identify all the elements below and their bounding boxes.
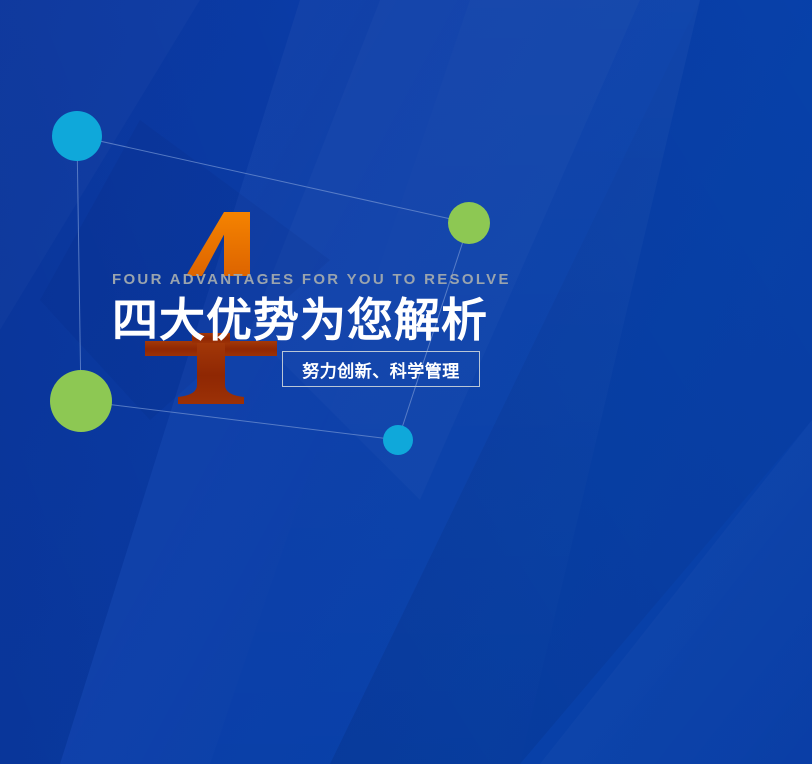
edge-green-bottom-left-to-cyan-bottom-center xyxy=(81,401,398,440)
node-cyan-bottom-center xyxy=(383,425,413,455)
promo-banner: FOUR ADVANTAGES FOR YOU TO RESOLVE 四大优势为… xyxy=(0,0,812,764)
node-green-bottom-left xyxy=(50,370,112,432)
node-green-right xyxy=(448,202,490,244)
tagline-box: 努力创新、科学管理 xyxy=(282,351,480,387)
edge-cyan-top-left-to-green-bottom-left xyxy=(77,136,81,401)
banner-copy: FOUR ADVANTAGES FOR YOU TO RESOLVE 四大优势为… xyxy=(112,270,752,348)
banner-headline: 四大优势为您解析 xyxy=(112,292,752,348)
node-cyan-top-left xyxy=(52,111,102,161)
banner-eyebrow: FOUR ADVANTAGES FOR YOU TO RESOLVE xyxy=(112,270,752,290)
tagline-text: 努力创新、科学管理 xyxy=(302,357,460,382)
orange-four-mark xyxy=(186,212,250,276)
